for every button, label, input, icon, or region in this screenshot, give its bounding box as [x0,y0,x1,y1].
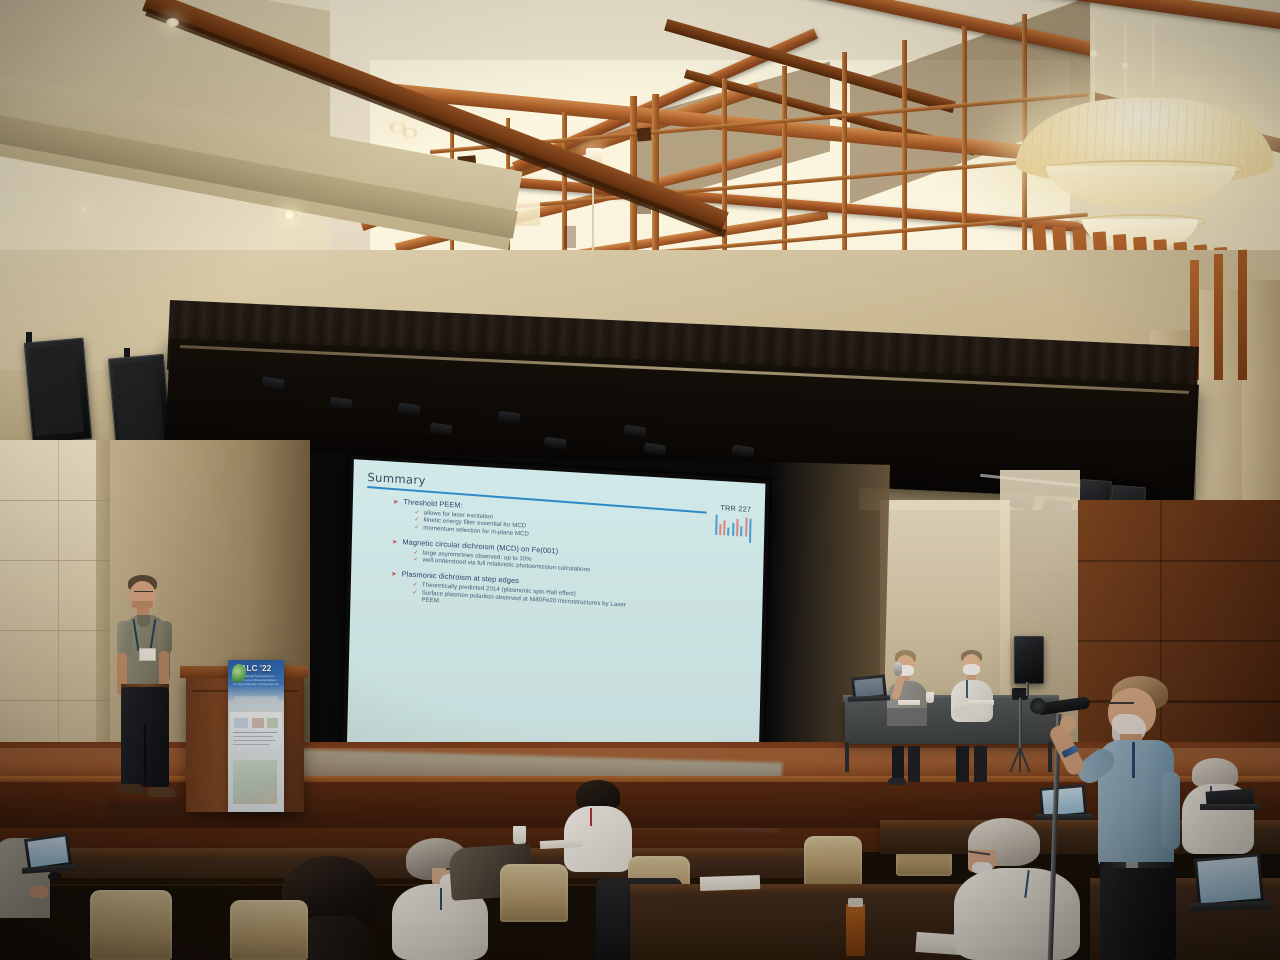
panel-papers [898,700,920,705]
recessed-downlight [78,206,89,214]
audience-chair [230,900,308,960]
panel-cup [926,692,934,703]
trr-logo-bars [714,513,756,537]
audience-chair [804,836,862,886]
presenter-shoe [118,784,144,794]
panel-papers [968,700,994,705]
presenter [104,575,184,810]
banner-detail-line [232,704,280,708]
arrow-bullet-icon: ➤ [391,571,397,578]
session-chair-right [948,650,996,770]
conference-banner: ALC '22 International Symposium on Atomi… [228,660,284,812]
check-icon: ✓ [413,557,418,563]
check-icon: ✓ [413,582,418,588]
banner-logo-icon [232,664,246,682]
projection-screen: Summary TRR 227 ➤Th [343,455,770,780]
audience-cup [513,826,526,844]
audience-right-shirt [954,868,1080,960]
check-icon: ✓ [414,517,419,523]
handheld-microphone [894,662,902,676]
check-icon: ✓ [414,549,419,555]
trr-logo: TRR 227 [714,503,757,537]
recessed-downlight [282,210,297,220]
chair-right-crossed-arms [953,706,991,718]
presenter-shoe [148,787,176,797]
presenter-glasses-icon [134,591,153,595]
session-chair-left [884,650,930,770]
questioner-glasses-icon [1108,702,1134,708]
presenter-floor-reflection [108,802,178,828]
chair-right-face-mask [963,664,980,675]
audience-member-right-front [952,818,1102,960]
presentation-slide: Summary TRR 227 ➤Th [347,459,766,775]
recessed-downlight [166,18,179,27]
questioner-trousers [1100,868,1176,960]
drink-bottle [846,904,865,956]
audience-chair [500,864,568,922]
audience-questioner [1084,676,1214,960]
audience-chair [90,890,172,960]
check-icon: ✓ [413,589,418,595]
arrow-bullet-icon: ➤ [393,498,399,505]
arrow-bullet-icon: ➤ [392,538,398,545]
check-icon: ✓ [415,509,420,515]
audience-papers [700,875,760,891]
presenter-badge [139,648,156,661]
check-icon: ✓ [414,524,419,530]
computer-mouse [48,872,62,881]
conference-hall-photo: Summary TRR 227 ➤Th [0,0,1280,960]
recessed-downlight [403,128,417,138]
pa-speaker-floor-right [1014,636,1044,684]
